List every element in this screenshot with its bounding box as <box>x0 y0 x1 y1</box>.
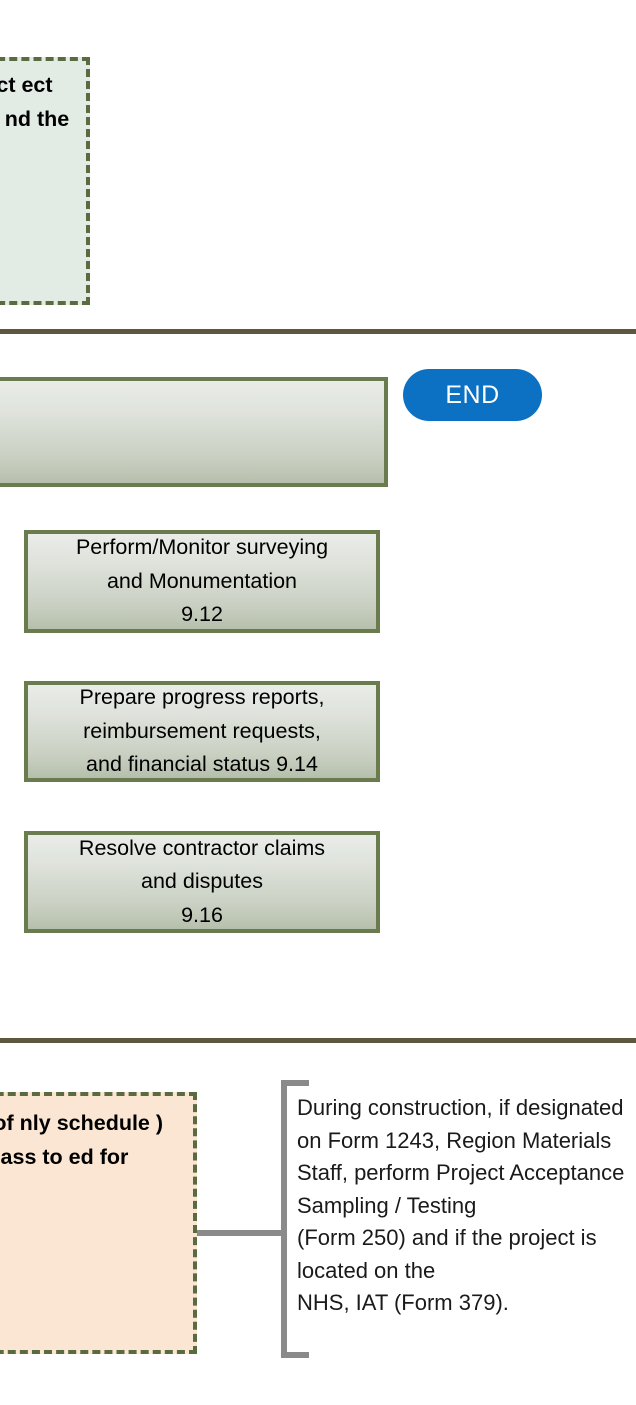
process-box-wide-top[interactable]: ce, . <box>0 377 388 487</box>
process-box-progress-reports-text: Prepare progress reports, reimbursement … <box>80 681 325 782</box>
note-box-mint-text: on, the ject ect is ce with nd the <box>0 73 69 131</box>
end-terminator[interactable]: END <box>403 369 542 421</box>
note-box-peach: rsement on a rtificates of nly schedule … <box>0 1092 197 1354</box>
process-box-progress-reports[interactable]: Prepare progress reports, reimbursement … <box>24 681 380 782</box>
note-box-peach-text: rsement on a rtificates of nly schedule … <box>0 1111 163 1203</box>
process-box-contractor-claims[interactable]: Resolve contractor claims and disputes 9… <box>24 831 380 933</box>
swimlane-divider-lower <box>0 1038 636 1043</box>
process-box-surveying-monumentation-text: Perform/Monitor surveying and Monumentat… <box>76 531 328 632</box>
swimlane-divider-upper <box>0 329 636 334</box>
process-box-surveying-monumentation[interactable]: Perform/Monitor surveying and Monumentat… <box>24 530 380 633</box>
end-terminator-label: END <box>445 381 499 410</box>
flowchart-canvas: on, the ject ect is ce with nd the ce, .… <box>0 0 636 1405</box>
process-box-contractor-claims-text: Resolve contractor claims and disputes 9… <box>79 832 325 933</box>
bracket-connector-line <box>197 1230 285 1236</box>
bracket-annotation-text: During construction, if designated on Fo… <box>297 1092 629 1320</box>
note-box-mint: on, the ject ect is ce with nd the <box>0 57 90 305</box>
